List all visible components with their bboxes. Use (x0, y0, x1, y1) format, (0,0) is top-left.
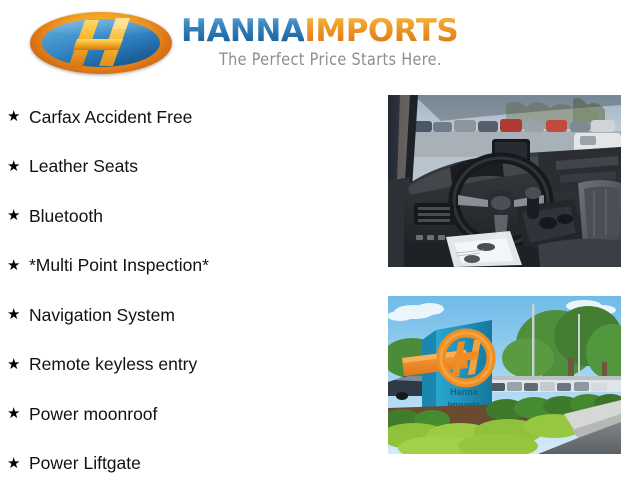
brand-tagline: The Perfect Price Starts Here. (219, 50, 442, 70)
feature-label: Leather Seats (29, 156, 138, 176)
list-item: ★ Power Liftgate (0, 439, 380, 488)
list-item: ★ Power moonroof (0, 389, 380, 439)
dealership-sign-photo: 240 Hanna Imports (388, 296, 621, 454)
feature-label: Power Liftgate (29, 453, 141, 473)
star-bullet-icon: ★ (7, 307, 29, 322)
svg-text:Hanna: Hanna (450, 387, 479, 397)
list-item: ★ Remote keyless entry (0, 340, 380, 390)
star-bullet-icon: ★ (7, 258, 29, 273)
dealership-sign-illustration: 240 Hanna Imports (388, 296, 621, 454)
list-item: ★ *Multi Point Inspection* (0, 241, 380, 291)
star-bullet-icon: ★ (7, 456, 29, 471)
brand-name-primary: HANNA (181, 13, 304, 49)
brand-wordmark: HANNAIMPORTS (181, 14, 458, 50)
vehicle-interior-illustration (388, 95, 621, 267)
page-header: HANNAIMPORTS The Perfect Price Starts He… (0, 0, 640, 88)
brand-name-secondary: IMPORTS (304, 13, 458, 49)
feature-label: *Multi Point Inspection* (29, 255, 209, 275)
vehicle-interior-photo (388, 95, 621, 267)
star-bullet-icon: ★ (7, 406, 29, 421)
star-bullet-icon: ★ (7, 208, 29, 223)
list-item: ★ Leather Seats (0, 142, 380, 192)
feature-label: Remote keyless entry (29, 354, 197, 374)
hanna-oval-h-logo-icon (30, 12, 172, 74)
list-item: ★ Carfax Accident Free (0, 92, 380, 142)
feature-label: Carfax Accident Free (29, 107, 192, 127)
feature-label: Navigation System (29, 305, 175, 325)
star-bullet-icon: ★ (7, 357, 29, 372)
star-bullet-icon: ★ (7, 109, 29, 124)
logo-h-glyph (30, 12, 172, 74)
list-item: ★ Navigation System (0, 290, 380, 340)
feature-label: Power moonroof (29, 404, 157, 424)
vehicle-feature-list: ★ Carfax Accident Free ★ Leather Seats ★… (0, 92, 380, 488)
star-bullet-icon: ★ (7, 159, 29, 174)
list-item: ★ Bluetooth (0, 191, 380, 241)
feature-label: Bluetooth (29, 206, 103, 226)
